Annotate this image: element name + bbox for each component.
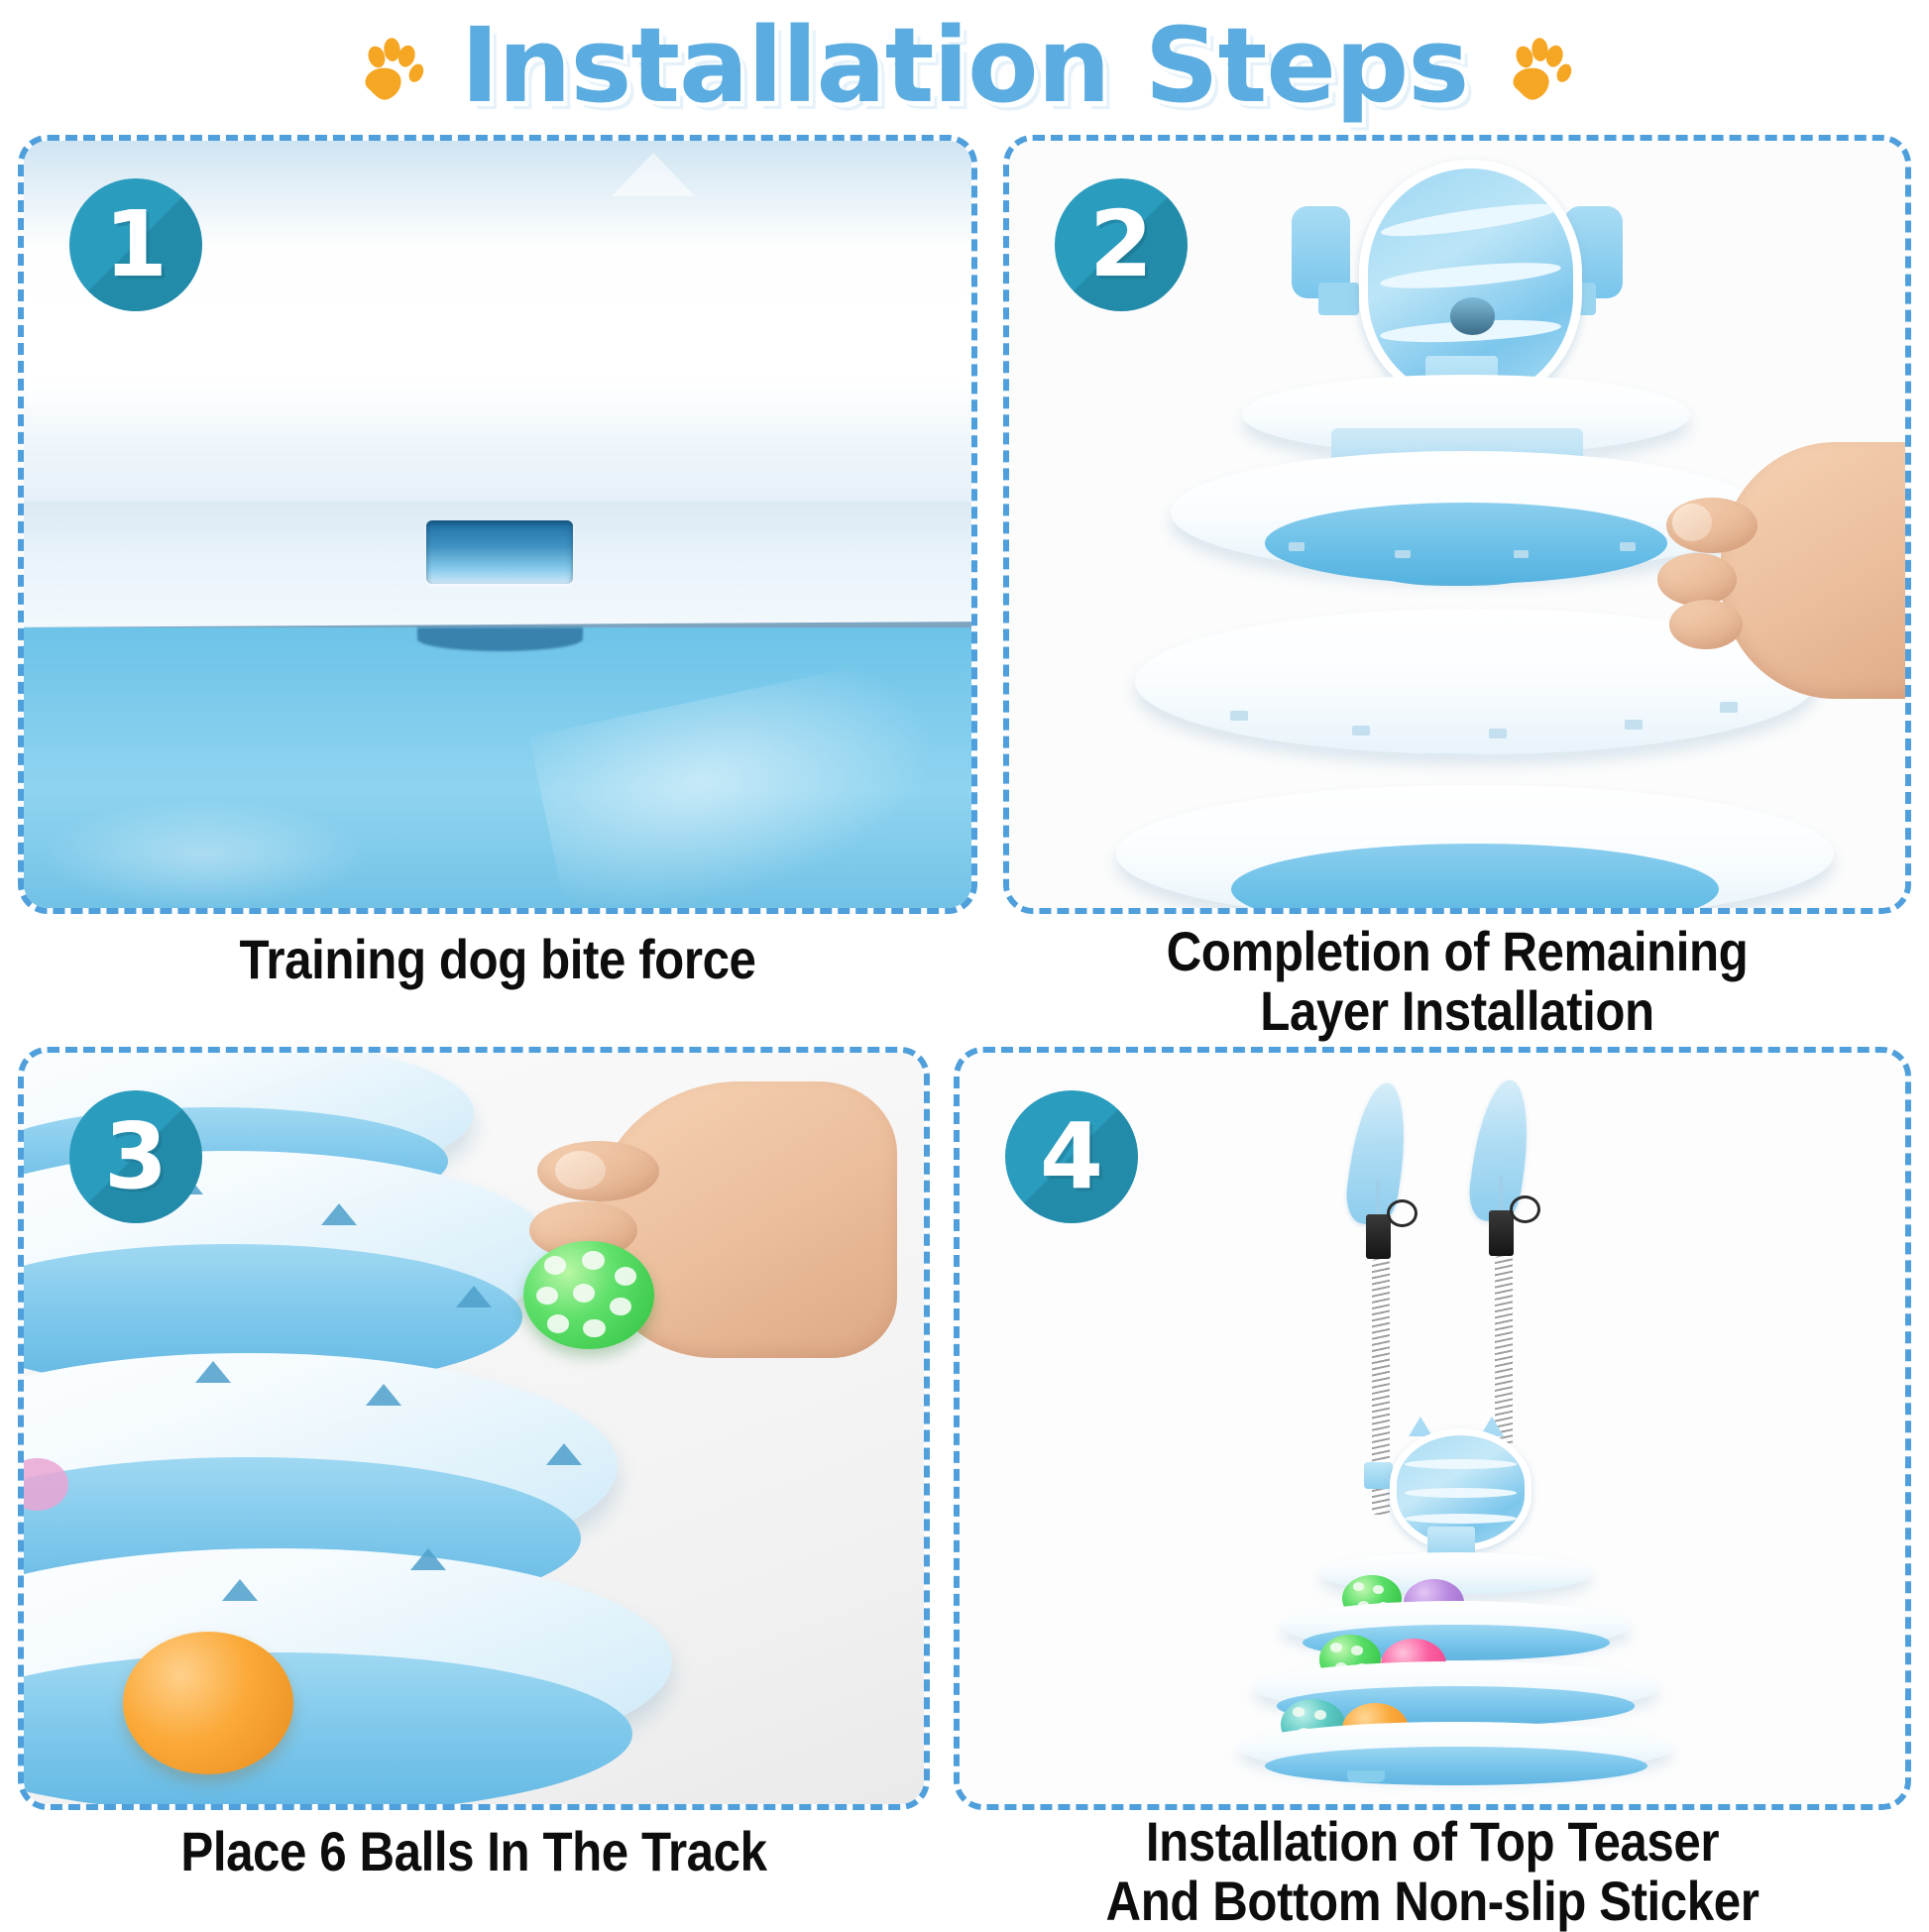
step-panel-4: 4 xyxy=(954,1047,1911,1810)
tower-tier-base xyxy=(1116,785,1833,914)
caption-line-2: Layer Installation xyxy=(1058,981,1857,1041)
page-header: Installation Steps xyxy=(0,0,1929,131)
step-caption-4: Installation of Top Teaser And Bottom No… xyxy=(1011,1812,1854,1932)
caption-line-1: Installation of Top Teaser xyxy=(1011,1812,1854,1872)
step-caption-2: Completion of Remaining Layer Installati… xyxy=(1058,922,1857,1042)
triangle-highlight xyxy=(612,153,695,196)
feather-ferrule xyxy=(1366,1214,1391,1259)
step-badge-4: 4 xyxy=(1005,1090,1138,1223)
paw-print-icon xyxy=(1502,33,1575,106)
step-badge-3: 3 xyxy=(69,1090,202,1223)
caption-line-1: Completion of Remaining xyxy=(1058,922,1857,981)
step-number: 4 xyxy=(1040,1111,1103,1202)
step-badge-1: 1 xyxy=(69,178,202,311)
tower-tier-third xyxy=(18,1353,618,1578)
hand-holding-tier xyxy=(1654,424,1911,716)
non-slip-sticker xyxy=(1347,1770,1385,1782)
step-badge-2: 2 xyxy=(1055,178,1188,311)
step-panel-2: 2 xyxy=(1003,135,1911,914)
paw-print-icon xyxy=(354,33,427,106)
orange-ball xyxy=(123,1632,294,1774)
green-ball xyxy=(523,1241,654,1350)
bell-icon xyxy=(1450,297,1496,334)
tower-tier-base xyxy=(1238,1722,1673,1774)
page-title: Installation Steps xyxy=(461,14,1469,117)
base-slot xyxy=(426,520,573,584)
ring-icon xyxy=(1510,1195,1540,1223)
spring-mount xyxy=(1364,1462,1393,1489)
step-number: 2 xyxy=(1089,199,1153,290)
tower-tier-base xyxy=(18,1548,672,1773)
ring-icon xyxy=(1387,1199,1418,1227)
step-caption-3: Place 6 Balls In The Track xyxy=(72,1822,875,1881)
step-caption-1: Training dog bite force xyxy=(75,930,920,989)
step-panel-3: 3 xyxy=(18,1047,930,1810)
caption-line-2: And Bottom Non-slip Sticker xyxy=(1011,1872,1854,1931)
step-panel-1: 1 xyxy=(18,135,977,914)
step-number: 3 xyxy=(104,1111,168,1202)
feather-ferrule xyxy=(1489,1210,1514,1255)
step-number: 1 xyxy=(104,199,168,290)
